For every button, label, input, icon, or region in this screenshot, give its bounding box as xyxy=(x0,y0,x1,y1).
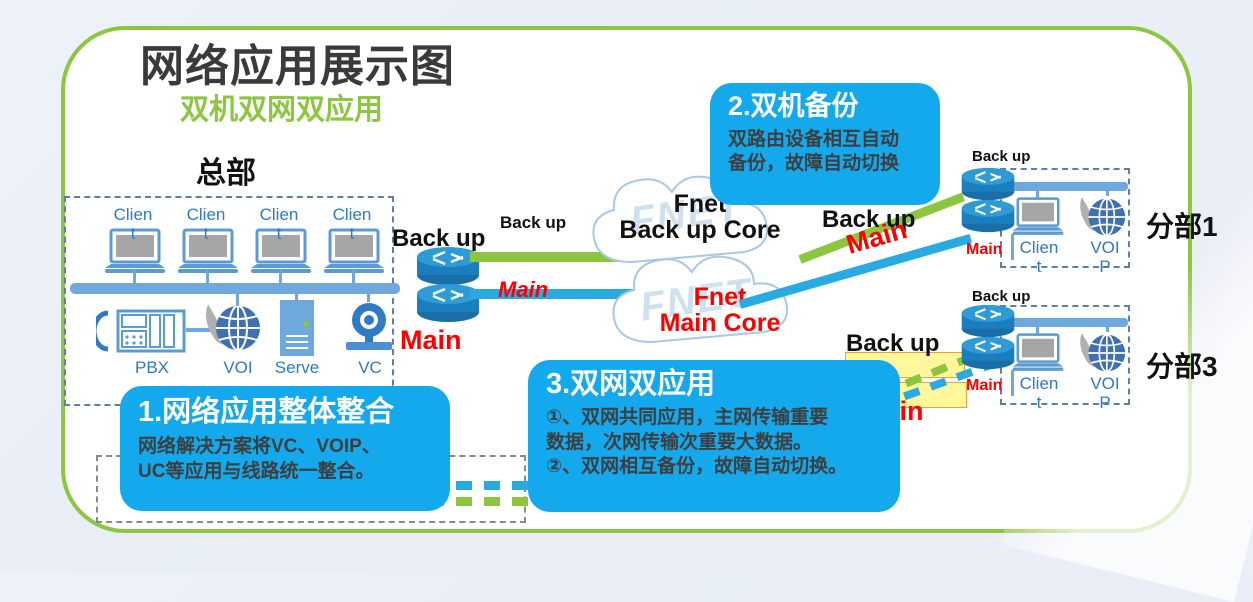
hq-router-main-label: Main xyxy=(400,325,462,356)
callout-1-heading: 1.网络应用整体整合 xyxy=(138,396,434,429)
hq-device-server-label: Serve xyxy=(267,358,327,377)
callout-3-line-2: 数据，次网传输次重要大数据。 xyxy=(546,431,886,455)
voip-globe-icon xyxy=(1073,192,1129,242)
hq-client-2-label: Clien t xyxy=(183,205,229,243)
hq-to-core-backup-label: Back up xyxy=(500,213,566,233)
page-subtitle: 双机双网双应用 xyxy=(180,86,383,128)
branch3-voip-drop xyxy=(1106,324,1109,332)
branch3-router-main-label: Main xyxy=(966,377,1002,395)
router-icon xyxy=(960,303,1016,339)
branch1-voip-drop xyxy=(1106,188,1109,196)
callout-3[interactable]: 3.双网双应用 ①、双网共同应用，主网传输重要 数据，次网传输次重要大数据。 ②… xyxy=(528,360,900,512)
callout-1[interactable]: 1.网络应用整体整合 网络解决方案将VC、VOIP、 UC等应用与线路统一整合。 xyxy=(120,386,450,511)
page-title: 网络应用展示图 xyxy=(140,30,455,94)
hq-client-1-label: Clien t xyxy=(110,205,156,243)
branch3-bus xyxy=(1002,318,1128,327)
hq-device-server xyxy=(276,298,318,365)
router-icon xyxy=(960,198,1016,234)
diagram-canvas: 网络应用展示图 双机双网双应用 总部 Clien t Clien t xyxy=(0,0,1253,573)
core-cloud-main-line2: Main Core xyxy=(600,311,840,336)
core-to-branch3-backup-label: Back up xyxy=(846,330,939,358)
hq-to-core-main-label: Main xyxy=(498,277,548,303)
callout-2-heading: 2.双机备份 xyxy=(728,91,926,122)
callout-1-line-1: 网络解决方案将VC、VOIP、 xyxy=(138,435,434,459)
hq-device-voip-label: VOI xyxy=(208,358,268,377)
callout-3-heading: 3.双网双应用 xyxy=(546,368,886,401)
branch1-voip-label: VOI P xyxy=(1082,238,1128,276)
video-camera-icon xyxy=(338,300,400,356)
callout-1-line-2: UC等应用与线路统一整合。 xyxy=(138,460,434,484)
hq-backbone-bus xyxy=(70,283,400,294)
server-icon xyxy=(276,298,318,360)
hq-device-pbx xyxy=(96,305,192,362)
branch3-voip-label: VOI P xyxy=(1082,374,1128,412)
laptop-icon xyxy=(1011,332,1065,376)
branch1-router-main-label: Main xyxy=(966,241,1002,259)
hq-client-2-drop xyxy=(206,270,209,286)
branch1-router-main xyxy=(960,198,1016,239)
callout-2[interactable]: 2.双机备份 双路由设备相互自动 备份，故障自动切换 xyxy=(710,83,940,205)
router-icon xyxy=(960,166,1016,202)
voip-globe-icon xyxy=(1073,328,1129,378)
hq-server-drop xyxy=(295,288,298,302)
laptop-icon xyxy=(1011,196,1065,240)
branch3-title: 分部3 xyxy=(1146,345,1218,385)
hq-client-3-label: Clien t xyxy=(256,205,302,243)
hq-client-4-drop xyxy=(352,270,355,286)
hq-device-vc xyxy=(338,300,400,361)
callout-3-line-3: ②、双网相互备份，故障自动切换。 xyxy=(546,455,886,479)
branch3-client-label: Clien t xyxy=(1016,374,1062,412)
hq-device-vc-label: VC xyxy=(340,358,400,377)
branch1-client-drop xyxy=(1036,188,1039,198)
callout-2-line-2: 备份，故障自动切换 xyxy=(728,152,926,176)
hq-device-pbx-label: PBX xyxy=(122,358,182,377)
branch1-title: 分部1 xyxy=(1146,205,1218,245)
branch3-client-drop xyxy=(1036,324,1039,334)
headquarters-title: 总部 xyxy=(196,148,256,192)
hq-device-voip xyxy=(198,298,264,363)
branch3-router-main xyxy=(960,335,1016,376)
core-cloud-backup-line2: Back up Core xyxy=(580,218,820,243)
branch1-router-backup-label: Back up xyxy=(972,148,1030,165)
hq-client-4-label: Clien t xyxy=(329,205,375,243)
router-icon xyxy=(960,335,1016,371)
callout-3-line-1: ①、双网共同应用，主网传输重要 xyxy=(546,406,886,430)
branch1-client-label: Clien t xyxy=(1016,238,1062,276)
hq-voip-drop xyxy=(236,292,239,306)
pbx-icon xyxy=(96,305,192,357)
hq-vc-drop xyxy=(367,288,370,302)
hq-client-1-drop xyxy=(133,270,136,286)
hq-client-3-drop xyxy=(279,270,282,286)
callout-2-line-1: 双路由设备相互自动 xyxy=(728,128,926,152)
voip-globe-icon xyxy=(198,298,264,358)
branch1-bus xyxy=(1002,182,1128,191)
